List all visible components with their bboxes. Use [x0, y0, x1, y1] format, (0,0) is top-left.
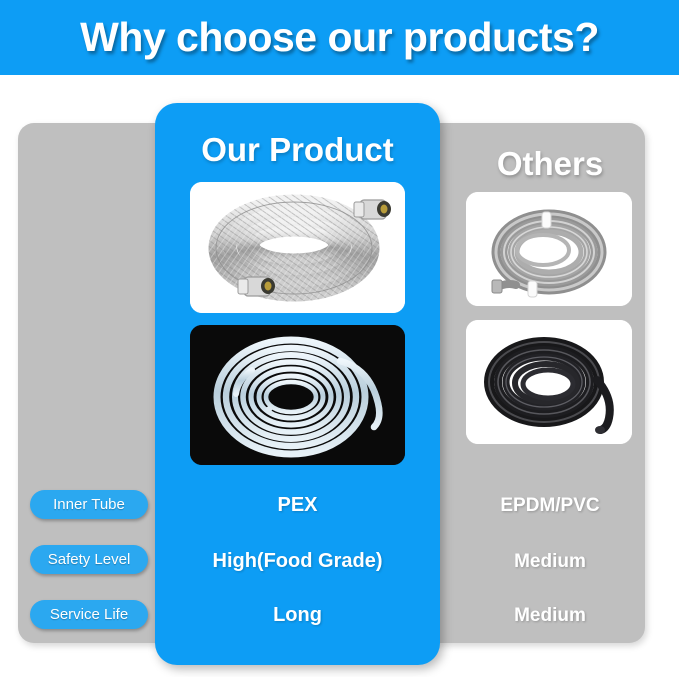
others-value-inner-tube: EPDM/PVC — [455, 495, 645, 517]
others-product-image-1 — [466, 192, 632, 306]
our-product-image-1 — [190, 182, 405, 313]
feature-label-service-life: Service Life — [30, 600, 148, 629]
hose-fitting-bottom — [238, 277, 275, 296]
feature-label-inner-tube: Inner Tube — [30, 490, 148, 519]
hose-fitting-top — [354, 200, 391, 219]
feature-label-text: Service Life — [50, 606, 128, 623]
others-product-image-2 — [466, 320, 632, 444]
feature-label-safety-level: Safety Level — [30, 545, 148, 574]
our-product-image-2 — [190, 325, 405, 465]
feature-labels-column: Inner Tube Safety Level Service Life — [30, 490, 150, 655]
our-product-card: Our Product — [155, 103, 440, 665]
our-product-heading: Our Product — [155, 131, 440, 169]
our-product-value-inner-tube: PEX — [155, 494, 440, 517]
others-heading: Others — [455, 145, 645, 183]
others-value-service-life: Medium — [455, 605, 645, 627]
feature-label-text: Safety Level — [48, 551, 131, 568]
feature-label-text: Inner Tube — [53, 496, 125, 513]
our-product-value-safety-level: High(Food Grade) — [155, 550, 440, 573]
our-product-value-service-life: Long — [155, 604, 440, 627]
others-column: Others — [455, 123, 645, 643]
page-title: Why choose our products? — [80, 14, 599, 61]
header-banner: Why choose our products? — [0, 0, 679, 75]
others-value-safety-level: Medium — [455, 551, 645, 573]
